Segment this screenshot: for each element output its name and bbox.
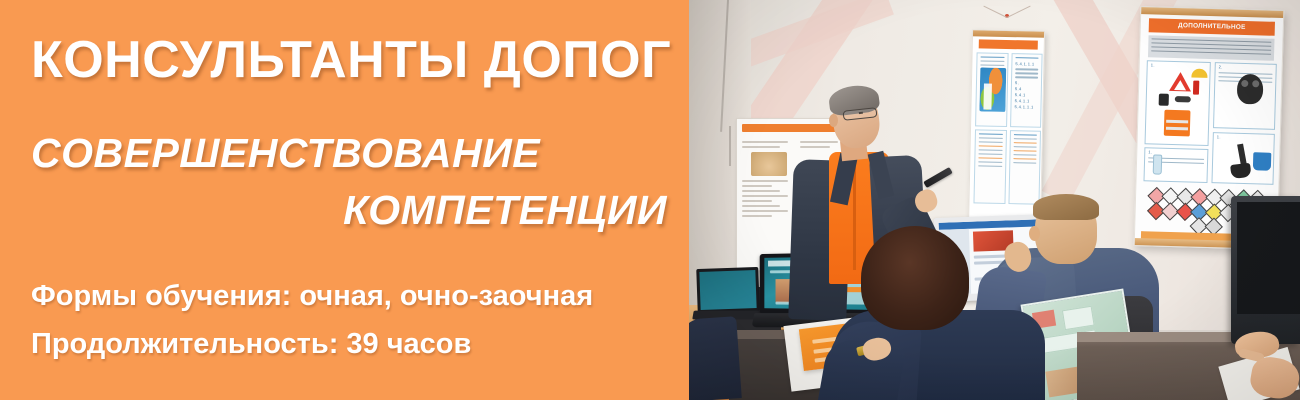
poster-code: 5. [1015,80,1038,85]
poster-cell [1008,130,1041,205]
poster-rail-top [969,29,1045,38]
poster-section-bottle: 1. [1143,147,1208,183]
partial-person-left [689,316,742,400]
helmet-icon [1191,68,1207,77]
gas-mask-icon [1237,74,1264,105]
poster-code: 5.4.1.1 [1015,98,1038,103]
text-panel: КОНСУЛЬТАНТЫ ДОПОГ СОВЕРШЕНСТВОВАНИЕ КОМ… [0,0,689,400]
poster-cell [975,52,1009,127]
flashlight-icon [1175,96,1191,102]
eyewash-bottle-icon [1153,154,1163,174]
study-forms-text: Формы обучения: очная, очно-заочная [31,282,593,311]
extinguisher-icon [1193,81,1199,95]
poster-section-shovel: 1. [1211,132,1274,185]
glove-icon [1159,94,1169,106]
subtitle-line-2: КОМПЕТЕНЦИИ [343,190,667,231]
student-woman [829,226,1049,400]
poster-title-bar [979,39,1038,49]
student-woman-hair [861,226,969,330]
page-title: КОНСУЛЬТАНТЫ ДОПОГ [31,34,671,86]
poster-code: 5.4.1.1.1 [1015,61,1038,66]
safety-vest-icon [1164,110,1191,137]
poster-cell: 5.4.1.1.1 5. 5.4 5.4.1 5.4.1.1 5.4.1.1.1 [1010,53,1043,128]
poster-title: ДОПОЛНИТЕЛЬНОЕ ОБОРУДОВАНИЕ [1149,18,1275,36]
europe-map-graphic [979,67,1006,112]
poster-section-mask: 2. [1213,62,1277,130]
bucket-icon [1253,152,1271,170]
presenter-ear [829,114,838,127]
duration-text: Продолжительность: 39 часов [31,330,471,359]
shovel-blade-icon [1230,163,1251,179]
laptop-lid [696,267,759,313]
monitor-right [1231,196,1300,344]
poster-code: 5.4 [1015,86,1038,91]
section-number: 2. [1219,64,1273,71]
student-hands [1229,326,1300,400]
subtitle-line-1: СОВЕРШЕНСТВОВАНИЕ [31,133,540,174]
promo-banner: КОНСУЛЬТАНТЫ ДОПОГ СОВЕРШЕНСТВОВАНИЕ КОМ… [0,0,1300,400]
section-number: 1. [1217,134,1271,141]
student-man-hair [1033,194,1099,220]
poster-code: 5.4.1.1.1 [1014,104,1037,109]
warning-triangle-icon [1169,72,1192,92]
poster-code: 5.4.1 [1015,92,1038,97]
poster-cell [973,129,1007,204]
marker-pen [923,167,952,188]
laptop-screen [699,270,756,310]
poster-intro-text [1148,35,1275,61]
classroom-photo: 5.4.1.1.1 5. 5.4 5.4.1 5.4.1.1 5.4.1.1.1 [689,0,1300,400]
poster-section-equipment: 1. [1145,60,1211,146]
map-legend [983,84,992,110]
wall-cable [729,126,731,166]
